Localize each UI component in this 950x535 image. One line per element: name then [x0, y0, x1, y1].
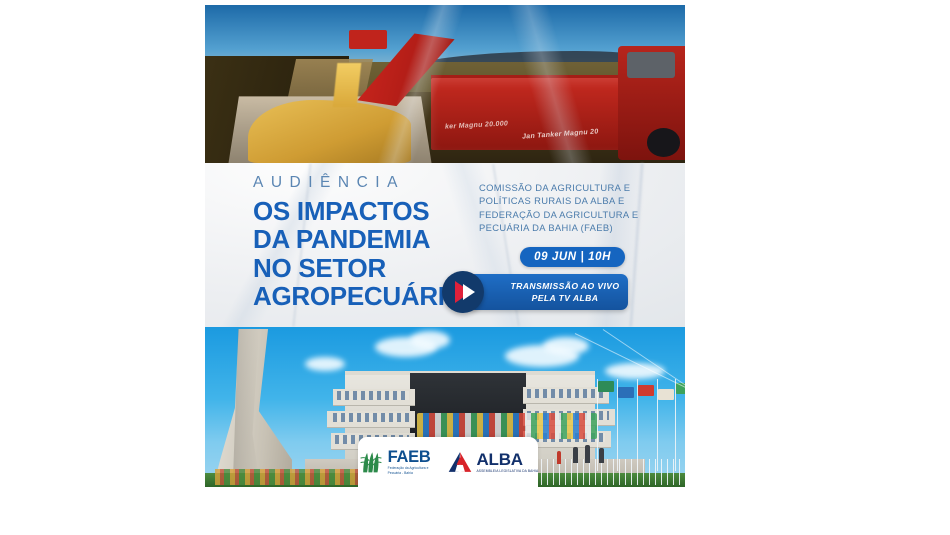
faeb-logo: FAEB Federação da Agricultura e Pecuária…: [358, 449, 431, 475]
person: [557, 451, 561, 464]
harvest-photo: ker Magnu 20.000 Jan Tanker Magnu 20: [205, 5, 685, 163]
logo-panel: FAEB Federação da Agricultura e Pecuária…: [358, 437, 538, 487]
text-band: AUDIÊNCIA OS IMPACTOS DA PANDEMIA NO SET…: [205, 163, 685, 327]
live-line-2: PELA TV ALBA: [532, 293, 599, 303]
live-broadcast-banner[interactable]: TRANSMISSÃO AO VIVOPELA TV ALBA: [468, 274, 628, 310]
alba-logo: ALBA ASSEMBLEIA LEGISLATIVA DA BAHIA: [448, 451, 538, 473]
headline-line-3: NO SETOR: [253, 254, 468, 283]
auger-head: [349, 30, 387, 49]
page-title: OS IMPACTOS DA PANDEMIA NO SETOR AGROPEC…: [253, 197, 468, 311]
window-strip: [337, 391, 409, 400]
combine-cab: [627, 52, 675, 77]
flag-pole: [597, 379, 598, 471]
wheat-icon: [358, 449, 384, 475]
person: [585, 445, 590, 463]
person: [599, 448, 604, 463]
window-strip: [527, 389, 603, 398]
faeb-name: FAEB: [388, 449, 431, 466]
faeb-text: FAEB Federação da Agricultura e Pecuária…: [388, 449, 431, 475]
flower-bed: [215, 469, 365, 485]
cloud: [410, 331, 450, 349]
headline-line-4: AGROPECUÁRIO: [253, 282, 468, 311]
event-poster-card: ker Magnu 20.000 Jan Tanker Magnu 20 AUD…: [205, 5, 685, 487]
person: [573, 447, 578, 463]
kicker-label: AUDIÊNCIA: [253, 175, 468, 191]
window-strip: [333, 413, 409, 422]
tire: [647, 128, 681, 156]
live-broadcast-block: TRANSMISSÃO AO VIVOPELA TV ALBA: [440, 271, 640, 315]
grain-pile: [248, 100, 411, 163]
play-triangle-white: [463, 284, 475, 300]
flag: [598, 381, 614, 392]
alba-subtitle: ASSEMBLEIA LEGISLATIVA DA BAHIA: [476, 470, 538, 473]
cloud: [305, 357, 345, 371]
play-icon[interactable]: [442, 271, 484, 313]
flag: [618, 387, 634, 398]
date-badge: 09 JUN | 10H: [520, 247, 625, 267]
organizers-block: COMISSÃO DA AGRICULTURA E POLÍTICAS RURA…: [479, 181, 675, 234]
triangle-icon: [448, 451, 472, 473]
flag: [638, 385, 654, 396]
cloud: [543, 337, 589, 355]
alba-text: ALBA ASSEMBLEIA LEGISLATIVA DA BAHIA: [476, 451, 538, 473]
faeb-subtitle: Federação da Agricultura e Pecuária - Ba…: [388, 466, 431, 475]
title-block: AUDIÊNCIA OS IMPACTOS DA PANDEMIA NO SET…: [253, 175, 468, 311]
headline-line-2: DA PANDEMIA: [253, 225, 468, 254]
alba-name: ALBA: [476, 451, 538, 468]
live-line-1: TRANSMISSÃO AO VIVO: [511, 281, 620, 291]
live-broadcast-text: TRANSMISSÃO AO VIVOPELA TV ALBA: [506, 280, 624, 305]
organizers-text: COMISSÃO DA AGRICULTURA E POLÍTICAS RURA…: [479, 181, 675, 234]
grain-stream: [332, 63, 361, 107]
flag-row: [417, 413, 597, 439]
headline-line-1: OS IMPACTOS: [253, 197, 468, 226]
flag: [658, 389, 674, 400]
